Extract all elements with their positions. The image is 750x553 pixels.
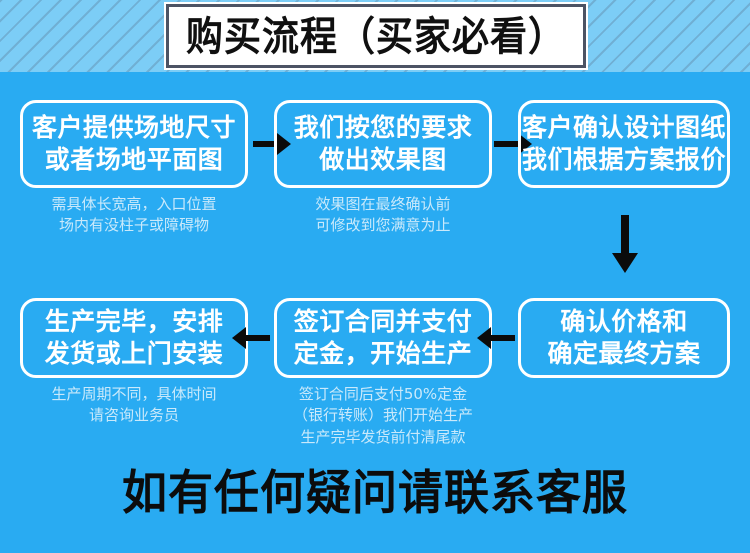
step-box-3[interactable]: 客户确认设计图纸 我们根据方案报价 — [518, 100, 730, 188]
step-1-caption-line-1: 需具体长宽高，入口位置 — [20, 194, 248, 215]
footer: 如有任何疑问请联系客服 — [0, 470, 750, 515]
step-1-caption: 需具体长宽高，入口位置 场内有没柱子或障碍物 — [20, 194, 248, 237]
step-2-caption: 效果图在最终确认前 可修改到您满意为止 — [274, 194, 492, 237]
step-1-line-2: 或者场地平面图 — [45, 144, 224, 176]
step-5-caption-line-1: 签订合同后支付50%定金 — [266, 384, 500, 405]
step-5-line-1: 签订合同并支付 — [294, 306, 473, 338]
step-box-2[interactable]: 我们按您的要求 做出效果图 — [274, 100, 492, 188]
step-2-caption-line-1: 效果图在最终确认前 — [274, 194, 492, 215]
step-3-line-2: 我们根据方案报价 — [522, 144, 726, 176]
step-1-caption-line-2: 场内有没柱子或障碍物 — [20, 215, 248, 236]
title-banner: 购买流程（买家必看） — [166, 4, 586, 68]
footer-text: 如有任何疑问请联系客服 — [122, 469, 628, 516]
step-1-line-1: 客户提供场地尺寸 — [32, 112, 236, 144]
arrow-left-icon-1 — [232, 323, 270, 353]
step-6-caption: 生产周期不同，具体时间 请咨询业务员 — [20, 384, 248, 427]
flowchart-page: 购买流程（买家必看） 客户提供场地尺寸 或者场地平面图 需具体长宽高，入口位置 … — [0, 0, 750, 553]
step-6-line-1: 生产完毕，安排 — [45, 306, 224, 338]
step-5-caption-line-2: （银行转账）我们开始生产 — [266, 405, 500, 426]
step-2-line-2: 做出效果图 — [319, 144, 447, 176]
step-6-caption-line-2: 请咨询业务员 — [20, 405, 248, 426]
step-5-caption: 签订合同后支付50%定金 （银行转账）我们开始生产 生产完毕发货前付清尾款 — [266, 384, 500, 448]
step-4-line-1: 确认价格和 — [560, 306, 688, 338]
page-title: 购买流程（买家必看） — [186, 16, 566, 56]
arrow-left-icon-2 — [477, 323, 515, 353]
step-box-6[interactable]: 生产完毕，安排 发货或上门安装 — [20, 298, 248, 378]
step-2-caption-line-2: 可修改到您满意为止 — [274, 215, 492, 236]
step-box-5[interactable]: 签订合同并支付 定金，开始生产 — [274, 298, 492, 378]
step-5-caption-line-3: 生产完毕发货前付清尾款 — [266, 427, 500, 448]
arrow-down-icon — [610, 215, 640, 273]
step-4-line-2: 确定最终方案 — [547, 338, 700, 370]
step-3-line-1: 客户确认设计图纸 — [522, 112, 726, 144]
step-2-line-1: 我们按您的要求 — [294, 112, 473, 144]
step-5-line-2: 定金，开始生产 — [294, 338, 473, 370]
step-6-caption-line-1: 生产周期不同，具体时间 — [20, 384, 248, 405]
step-box-1[interactable]: 客户提供场地尺寸 或者场地平面图 — [20, 100, 248, 188]
step-box-4[interactable]: 确认价格和 确定最终方案 — [518, 298, 730, 378]
step-6-line-2: 发货或上门安装 — [45, 338, 224, 370]
